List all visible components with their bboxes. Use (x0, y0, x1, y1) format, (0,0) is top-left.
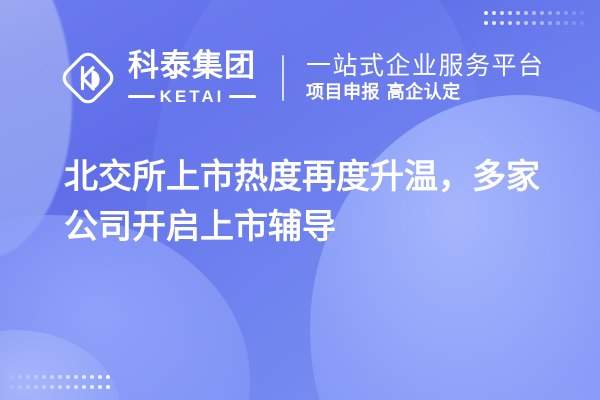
brand-name-cn: 科泰集团 (128, 51, 256, 82)
dot-grid-bottom-left (10, 375, 110, 389)
decorative-dot (580, 21, 584, 25)
decorative-dot (50, 375, 54, 379)
decorative-dot (58, 375, 62, 379)
decorative-dot (556, 21, 560, 25)
brand-name-en: KETAI (160, 88, 225, 105)
decorative-dot (74, 385, 78, 389)
decorative-dot (492, 21, 496, 25)
promo-banner: 科泰集团 KETAI 一站式企业服务平台 项目申报 高企认定 北交所上市热度再度… (0, 0, 600, 400)
decorative-dot (106, 385, 110, 389)
decorative-dot (564, 21, 568, 25)
decorative-dot (500, 11, 504, 15)
page-title: 北交所上市热度再度升温，多家公司开启上市辅导 (64, 152, 550, 253)
background-blob-bottom-corner (0, 330, 120, 400)
decorative-dot (508, 21, 512, 25)
decorative-dot (516, 21, 520, 25)
decorative-dot (106, 375, 110, 379)
decorative-dot (90, 375, 94, 379)
decorative-dot (50, 385, 54, 389)
background-blob-left-arc (0, 0, 72, 260)
header-divider (282, 55, 284, 101)
decorative-dot (10, 385, 14, 389)
decorative-dot (18, 375, 22, 379)
decorative-dot (34, 385, 38, 389)
ketai-diamond-kp-logo-icon (60, 50, 116, 106)
decorative-dot (42, 385, 46, 389)
decorative-dot (532, 21, 536, 25)
decorative-dot (98, 375, 102, 379)
banner-header: 科泰集团 KETAI 一站式企业服务平台 项目申报 高企认定 (60, 44, 545, 112)
decorative-dot (74, 375, 78, 379)
decorative-dot (508, 11, 512, 15)
tagline-sub: 项目申报 高企认定 (306, 82, 545, 104)
decorative-dot (524, 21, 528, 25)
decorative-dot (26, 385, 30, 389)
decorative-dot (82, 385, 86, 389)
decorative-dot (484, 21, 488, 25)
decorative-dot (532, 11, 536, 15)
decorative-dot (18, 385, 22, 389)
decorative-dot (564, 11, 568, 15)
decorative-dot (556, 11, 560, 15)
decorative-dot (98, 385, 102, 389)
tagline-block: 一站式企业服务平台 项目申报 高企认定 (306, 52, 545, 104)
decorative-dot (34, 375, 38, 379)
decorative-dot (572, 21, 576, 25)
decorative-dot (66, 375, 70, 379)
logo-rule-left (128, 95, 155, 98)
brand-name-en-row: KETAI (128, 88, 256, 105)
decorative-dot (10, 375, 14, 379)
decorative-dot (580, 11, 584, 15)
logo-rule-right (229, 95, 256, 98)
decorative-dot (58, 385, 62, 389)
decorative-dot (540, 21, 544, 25)
decorative-dot (516, 11, 520, 15)
decorative-dot (540, 11, 544, 15)
brand-logo-wordmark: 科泰集团 KETAI (128, 51, 256, 105)
decorative-dot (548, 21, 552, 25)
decorative-dot (548, 11, 552, 15)
decorative-dot (82, 375, 86, 379)
decorative-dot (90, 385, 94, 389)
decorative-dot (500, 21, 504, 25)
decorative-dot (66, 385, 70, 389)
decorative-dot (42, 375, 46, 379)
decorative-dot (524, 11, 528, 15)
dot-grid-top-right (484, 11, 584, 25)
tagline-main: 一站式企业服务平台 (306, 52, 545, 80)
decorative-dot (572, 11, 576, 15)
decorative-dot (492, 11, 496, 15)
brand-logo[interactable]: 科泰集团 KETAI (60, 50, 256, 106)
decorative-dot (484, 11, 488, 15)
decorative-dot (26, 375, 30, 379)
